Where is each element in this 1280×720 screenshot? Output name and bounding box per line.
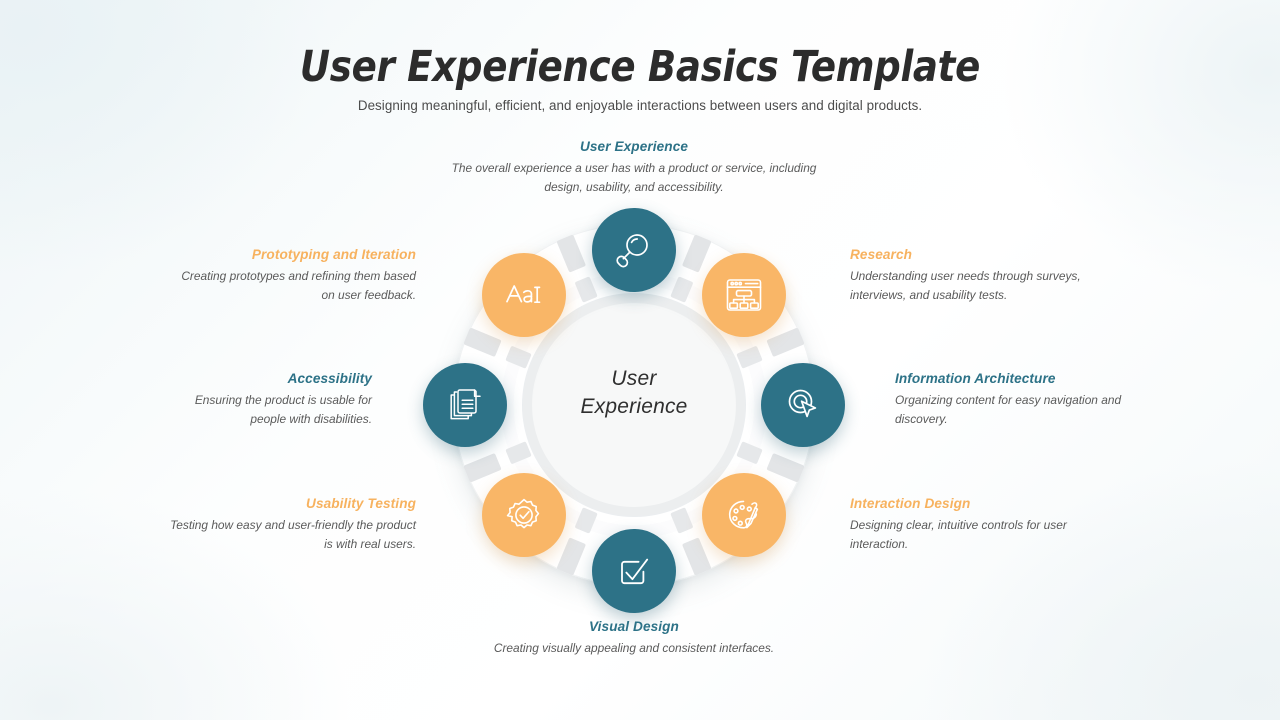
node-information-architecture[interactable] xyxy=(761,363,845,447)
slide-canvas: User Experience Basics Template Designin… xyxy=(0,0,1280,720)
label-research: Research Understanding user needs throug… xyxy=(850,247,1112,306)
page-subtitle: Designing meaningful, efficient, and enj… xyxy=(0,98,1280,113)
label-description: Creating visually appealing and consiste… xyxy=(444,639,824,658)
label-information-architecture: Information Architecture Organizing cont… xyxy=(895,371,1131,430)
label-user-experience: User Experience The overall experience a… xyxy=(444,139,824,198)
checkbox-check-icon xyxy=(613,550,655,592)
label-title: Information Architecture xyxy=(895,371,1131,386)
page-title: User Experience Basics Template xyxy=(26,42,1255,92)
gear-check-icon xyxy=(503,494,545,536)
typography-aa-icon xyxy=(502,273,546,317)
label-visual-design: Visual Design Creating visually appealin… xyxy=(444,619,824,658)
label-title: Accessibility xyxy=(166,371,372,386)
label-interaction-design: Interaction Design Designing clear, intu… xyxy=(850,496,1100,555)
label-description: Understanding user needs through surveys… xyxy=(850,267,1112,306)
node-user-experience[interactable] xyxy=(592,208,676,292)
label-prototyping-and-iteration: Prototyping and Iteration Creating proto… xyxy=(166,247,416,306)
label-description: Creating prototypes and refining them ba… xyxy=(166,267,416,306)
label-title: Interaction Design xyxy=(850,496,1100,511)
sitemap-browser-icon xyxy=(723,274,765,316)
node-accessibility[interactable] xyxy=(423,363,507,447)
click-cursor-icon xyxy=(782,384,824,426)
hub-label: User Experience xyxy=(530,365,738,421)
magnifier-icon xyxy=(613,229,655,271)
label-title: User Experience xyxy=(444,139,824,154)
label-title: Research xyxy=(850,247,1112,262)
label-description: Designing clear, intuitive controls for … xyxy=(850,516,1100,555)
label-description: The overall experience a user has with a… xyxy=(444,159,824,198)
label-title: Usability Testing xyxy=(166,496,416,511)
node-usability-testing[interactable] xyxy=(482,473,566,557)
palette-brush-icon xyxy=(723,494,765,536)
label-accessibility: Accessibility Ensuring the product is us… xyxy=(166,371,372,430)
label-description: Testing how easy and user-friendly the p… xyxy=(166,516,416,555)
label-description: Organizing content for easy navigation a… xyxy=(895,391,1131,430)
documents-stack-icon xyxy=(444,384,486,426)
node-research[interactable] xyxy=(702,253,786,337)
label-title: Prototyping and Iteration xyxy=(166,247,416,262)
hub-label-line2: Experience xyxy=(580,395,687,418)
label-title: Visual Design xyxy=(444,619,824,634)
label-usability-testing: Usability Testing Testing how easy and u… xyxy=(166,496,416,555)
node-visual-design[interactable] xyxy=(592,529,676,613)
node-interaction-design[interactable] xyxy=(702,473,786,557)
label-description: Ensuring the product is usable for peopl… xyxy=(166,391,372,430)
hub-label-line1: User xyxy=(611,367,656,390)
